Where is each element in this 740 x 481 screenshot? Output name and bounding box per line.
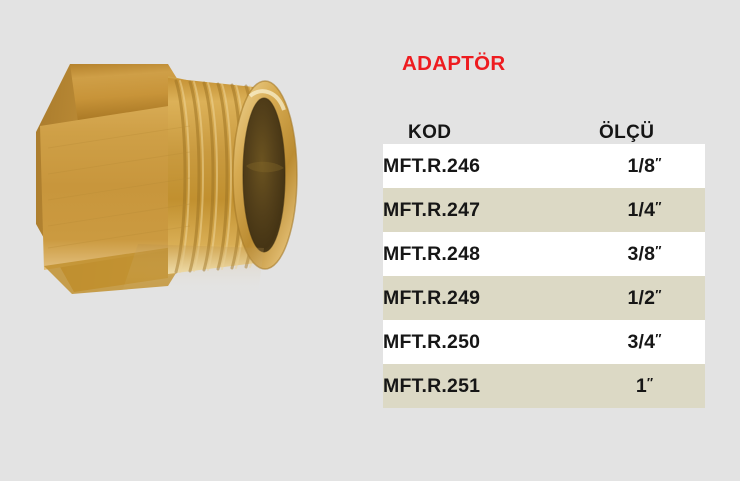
cell-product-code: MFT.R.247 xyxy=(383,188,583,232)
size-value: 1/8 xyxy=(628,155,656,177)
size-value: 1/4 xyxy=(628,199,656,221)
table-row[interactable]: MFT.R.2491/2″ xyxy=(383,276,705,320)
cell-product-size: 1″ xyxy=(583,364,705,408)
spec-panel: ADAPTÖR KOD ÖLÇÜ MFT.R.2461/8″MFT.R.2471… xyxy=(383,50,707,408)
bottom-light-spill xyxy=(122,244,264,294)
product-spec-sheet: ADAPTÖR KOD ÖLÇÜ MFT.R.2461/8″MFT.R.2471… xyxy=(0,0,740,481)
product-table: MFT.R.2461/8″MFT.R.2471/4″MFT.R.2483/8″M… xyxy=(383,144,705,408)
inch-mark-icon: ″ xyxy=(655,155,660,170)
cell-product-size: 1/4″ xyxy=(583,188,705,232)
column-headers: KOD ÖLÇÜ xyxy=(383,98,707,144)
size-value: 3/8 xyxy=(628,243,656,265)
cell-product-code: MFT.R.246 xyxy=(383,144,583,188)
cell-product-size: 1/2″ xyxy=(583,276,705,320)
table-row[interactable]: MFT.R.2471/4″ xyxy=(383,188,705,232)
cell-product-size: 3/4″ xyxy=(583,320,705,364)
inch-mark-icon: ″ xyxy=(655,199,660,214)
table-row[interactable]: MFT.R.2483/8″ xyxy=(383,232,705,276)
column-header-code: KOD xyxy=(408,122,451,144)
product-image xyxy=(18,48,328,308)
brass-adapter-fitting-illustration xyxy=(18,48,328,308)
cell-product-code: MFT.R.250 xyxy=(383,320,583,364)
inch-mark-icon: ″ xyxy=(647,375,652,390)
inch-mark-icon: ″ xyxy=(655,243,660,258)
table-row[interactable]: MFT.R.2503/4″ xyxy=(383,320,705,364)
cell-product-code: MFT.R.248 xyxy=(383,232,583,276)
size-value: 3/4 xyxy=(628,331,656,353)
size-value: 1/2 xyxy=(628,287,656,309)
table-row[interactable]: MFT.R.2461/8″ xyxy=(383,144,705,188)
inch-mark-icon: ″ xyxy=(655,331,660,346)
page-title: ADAPTÖR xyxy=(383,50,707,78)
cell-product-code: MFT.R.249 xyxy=(383,276,583,320)
size-value: 1 xyxy=(636,375,647,397)
column-header-size: ÖLÇÜ xyxy=(599,122,654,144)
cell-product-size: 1/8″ xyxy=(583,144,705,188)
inch-mark-icon: ″ xyxy=(655,287,660,302)
cell-product-code: MFT.R.251 xyxy=(383,364,583,408)
cell-product-size: 3/8″ xyxy=(583,232,705,276)
product-table-body: MFT.R.2461/8″MFT.R.2471/4″MFT.R.2483/8″M… xyxy=(383,144,705,408)
table-row[interactable]: MFT.R.2511″ xyxy=(383,364,705,408)
